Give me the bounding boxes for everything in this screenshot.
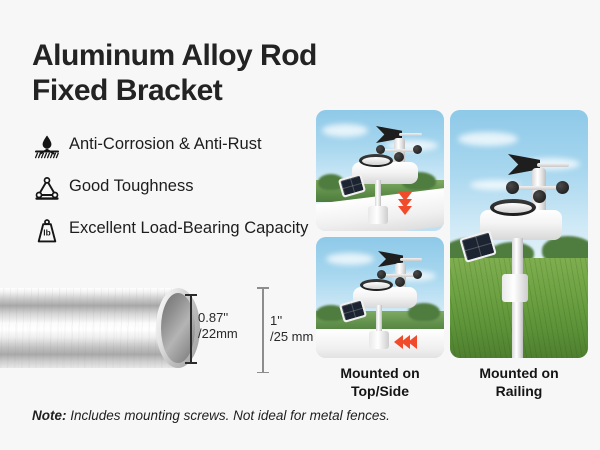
title-line-1: Aluminum Alloy Rod xyxy=(32,39,317,72)
cloud-shape xyxy=(458,132,518,146)
direction-arrows-down xyxy=(398,192,412,213)
photo-mounted-on-top[interactable] xyxy=(316,110,444,231)
feature-label: Good Toughness xyxy=(64,173,193,197)
title-line-2: Fixed Bracket xyxy=(32,73,332,108)
dim-cap-bottom xyxy=(257,372,269,374)
anemometer-cup xyxy=(556,181,569,194)
caption-line-2: Top/Side xyxy=(316,382,444,400)
photo-mounted-on-side[interactable] xyxy=(316,237,444,358)
infographic-canvas: Aluminum Alloy Rod Fixed Bracket Anti-Co… xyxy=(0,0,600,450)
triangle-truss-icon xyxy=(30,174,64,204)
note-prefix: Note: xyxy=(32,408,67,423)
outer-diameter-label: 1'' /25 mm xyxy=(270,313,313,346)
anemometer-cup xyxy=(413,145,422,154)
weight-lb-icon: lb xyxy=(30,216,64,246)
cloud-shape xyxy=(322,124,368,137)
photo-gallery xyxy=(316,110,588,358)
outer-diameter-mm: /25 mm xyxy=(270,329,313,345)
mounting-bracket xyxy=(502,274,528,302)
anemometer-cup xyxy=(533,190,546,203)
inner-diameter-label: 0.87'' /22mm xyxy=(198,310,238,343)
rain-gauge-inner xyxy=(363,282,390,289)
aluminum-rod-illustration xyxy=(0,288,208,368)
outer-diameter-inches: 1'' xyxy=(270,313,313,329)
vane-arm xyxy=(537,163,569,167)
dim-cap-bottom xyxy=(185,362,197,364)
inner-diameter-mm: /22mm xyxy=(198,326,238,342)
rain-gauge-inner xyxy=(494,203,532,213)
outer-diameter-line xyxy=(262,287,264,373)
page-title: Aluminum Alloy Rod Fixed Bracket xyxy=(32,38,332,109)
feature-label: Anti-Corrosion & Anti-Rust xyxy=(64,131,262,155)
caption-mounted-top-side: Mounted on Top/Side xyxy=(316,364,444,401)
inner-diameter-inches: 0.87'' xyxy=(198,310,238,326)
feature-item-anti-corrosion: Anti-Corrosion & Anti-Rust xyxy=(30,131,320,162)
chevron-left-icon xyxy=(408,335,417,349)
direction-arrows-left xyxy=(394,335,415,349)
anemometer-cup xyxy=(395,277,405,287)
feature-list: Anti-Corrosion & Anti-Rust Good Toughnes… xyxy=(30,131,320,257)
anemometer-cup xyxy=(377,270,386,279)
caption-mounted-railing: Mounted on Railing xyxy=(450,364,588,401)
rod-texture xyxy=(0,288,178,368)
weight-unit-text: lb xyxy=(43,228,50,238)
anemometer-cup xyxy=(394,152,404,162)
rain-gauge-inner xyxy=(362,157,390,165)
feature-item-toughness: Good Toughness xyxy=(30,173,320,204)
chevron-down-icon xyxy=(398,206,412,215)
photo-mounted-on-railing[interactable] xyxy=(450,110,588,358)
feature-label: Excellent Load-Bearing Capacity xyxy=(64,215,308,239)
dim-cap-top xyxy=(185,294,197,296)
anemometer-cup xyxy=(413,270,422,279)
mounting-bracket xyxy=(369,331,389,349)
caption-line-1: Mounted on xyxy=(450,364,588,382)
feature-item-load-bearing: lb Excellent Load-Bearing Capacity xyxy=(30,215,320,246)
caption-line-1: Mounted on xyxy=(316,364,444,382)
anemometer-cup xyxy=(376,145,385,154)
note-text: Note: Includes mounting screws. Not idea… xyxy=(32,408,390,423)
caption-line-2: Railing xyxy=(450,382,588,400)
cloud-shape xyxy=(326,253,374,265)
anemometer-cup xyxy=(506,181,519,194)
inner-diameter-line xyxy=(190,294,192,364)
mounting-bracket xyxy=(368,206,388,224)
dim-cap-top xyxy=(257,287,269,289)
vane-arm xyxy=(399,133,422,136)
water-droplet-repel-icon xyxy=(30,132,64,162)
vane-arm xyxy=(400,258,422,261)
note-body: Includes mounting screws. Not ideal for … xyxy=(70,408,390,423)
